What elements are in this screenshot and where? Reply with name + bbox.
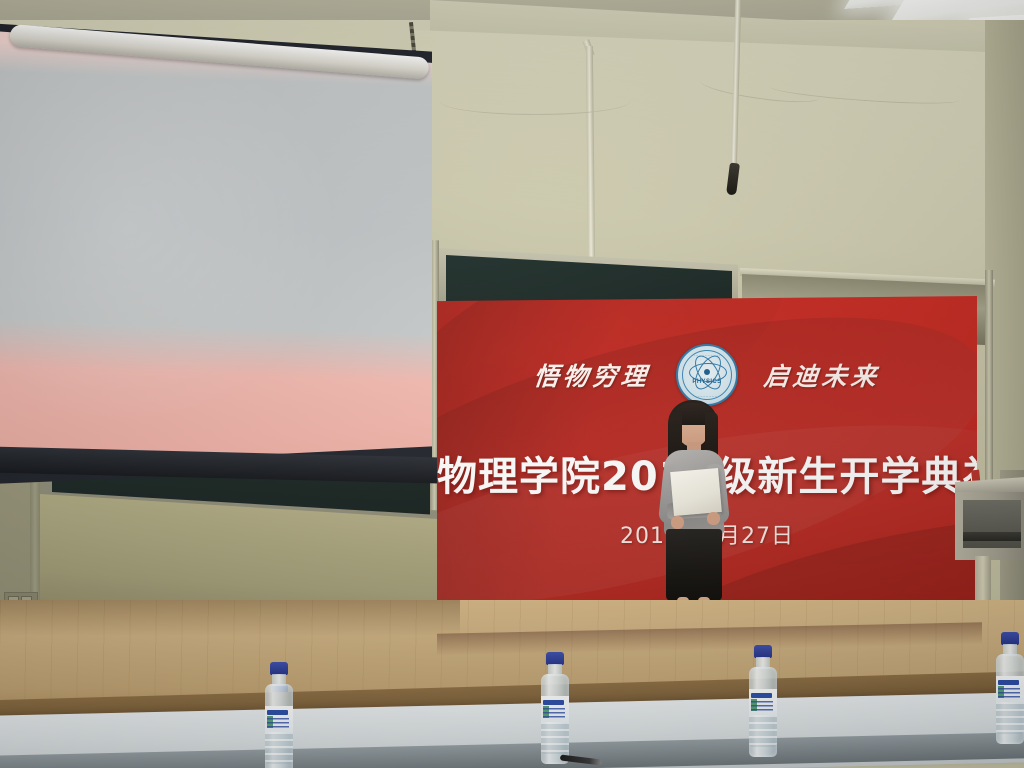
atom-nucleus-icon	[704, 369, 710, 375]
bottle-label-text	[751, 701, 773, 711]
presenter-skirt	[666, 529, 722, 601]
bottle-label-text	[998, 688, 1020, 698]
lectern-shelf	[963, 532, 1021, 541]
presenter-hand-right	[707, 512, 720, 525]
bottle-label-text	[267, 718, 289, 728]
water-bottle	[261, 662, 297, 768]
water-bottle	[745, 645, 781, 757]
bottle-label-band	[267, 710, 288, 715]
ceiling-wire	[440, 88, 630, 115]
water-bottle	[992, 632, 1024, 744]
banner-slogan-right: 启迪未来	[762, 357, 882, 393]
water-bottle	[537, 652, 573, 764]
bottle-label-band	[543, 700, 564, 705]
banner-slogan-left: 悟物穷理	[532, 357, 652, 393]
bottle-label-text	[543, 708, 565, 718]
stage-shadow	[0, 600, 460, 636]
banner-slogan-row: 悟物穷理 ················· PHYSICS ·········…	[437, 344, 977, 406]
projection-screen-glare	[0, 14, 432, 484]
physics-school-seal-icon: ················· PHYSICS ··············	[676, 344, 738, 406]
bottle-label-band	[751, 693, 772, 698]
lecture-hall-photo: 悟物穷理 ················· PHYSICS ·········…	[0, 0, 1024, 768]
board-mullion-right	[985, 270, 993, 495]
script-papers	[670, 468, 722, 516]
bottle-label-band	[998, 680, 1019, 685]
presenter-hand-left	[671, 516, 684, 529]
seal-wordmark: PHYSICS	[678, 379, 736, 385]
